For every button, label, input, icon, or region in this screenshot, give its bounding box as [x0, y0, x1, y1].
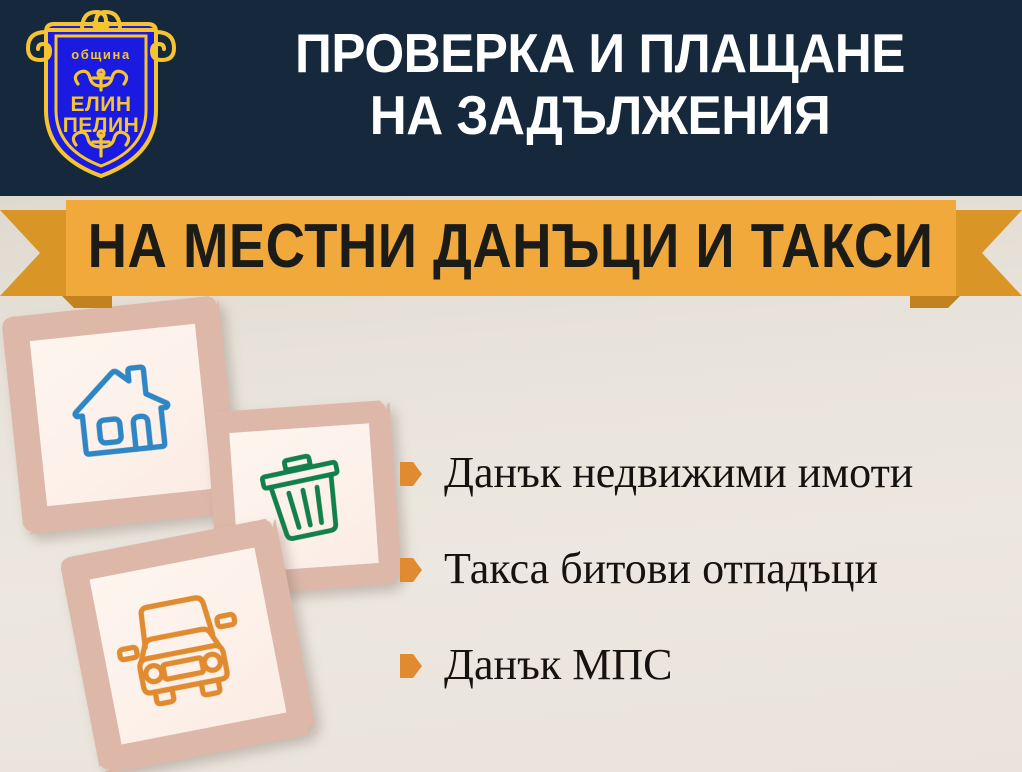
header-bar: община ЕЛИН ПЕЛИН ПРОВЕРКА И ПЛАЩАНЕ НА … — [0, 0, 1022, 196]
page-title-line-1: ПРОВЕРКА И ПЛАЩАНЕ — [219, 22, 982, 84]
list-item[interactable]: Данък недвижими имоти — [400, 425, 1010, 521]
stamp-card-vehicle — [59, 517, 317, 772]
list-item-label: Данък недвижими имоти — [444, 449, 913, 497]
bullet-arrow-icon — [400, 462, 422, 486]
list-item-label: Такса битови отпадъци — [444, 545, 878, 593]
emblem-name-line-2: ПЕЛИН — [63, 114, 140, 137]
page-title: ПРОВЕРКА И ПЛАЩАНЕ НА ЗАДЪЛЖЕНИЯ — [219, 22, 982, 146]
ribbon-banner: НА МЕСТНИ ДАНЪЦИ И ТАКСИ — [66, 200, 956, 296]
poster-canvas: община ЕЛИН ПЕЛИН ПРОВЕРКА И ПЛАЩАНЕ НА … — [0, 0, 1022, 772]
stamp-card-property — [1, 295, 241, 535]
emblem-top-label: община — [71, 47, 131, 62]
ribbon-fold-shadow-right — [910, 296, 960, 308]
list-item[interactable]: Данък МПС — [400, 617, 1010, 713]
coat-of-arms-emblem: община ЕЛИН ПЕЛИН — [20, 6, 182, 188]
emblem-svg: община ЕЛИН ПЕЛИН — [20, 6, 182, 188]
list-item[interactable]: Такса битови отпадъци — [400, 521, 1010, 617]
car-front-icon — [106, 579, 252, 717]
page-title-line-2: НА ЗАДЪЛЖЕНИЯ — [219, 84, 982, 146]
list-item-label: Данък МПС — [444, 641, 672, 689]
bullet-arrow-icon — [400, 558, 422, 582]
tax-type-list: Данък недвижими имоти Такса битови отпад… — [400, 425, 1010, 713]
house-icon — [64, 353, 178, 467]
subtitle-ribbon: НА МЕСТНИ ДАНЪЦИ И ТАКСИ — [0, 196, 1022, 306]
ribbon-text: НА МЕСТНИ ДАНЪЦИ И ТАКСИ — [88, 216, 934, 278]
bullet-arrow-icon — [400, 654, 422, 678]
emblem-name-line-1: ЕЛИН — [70, 93, 131, 116]
stamp-card-group — [0, 296, 420, 772]
